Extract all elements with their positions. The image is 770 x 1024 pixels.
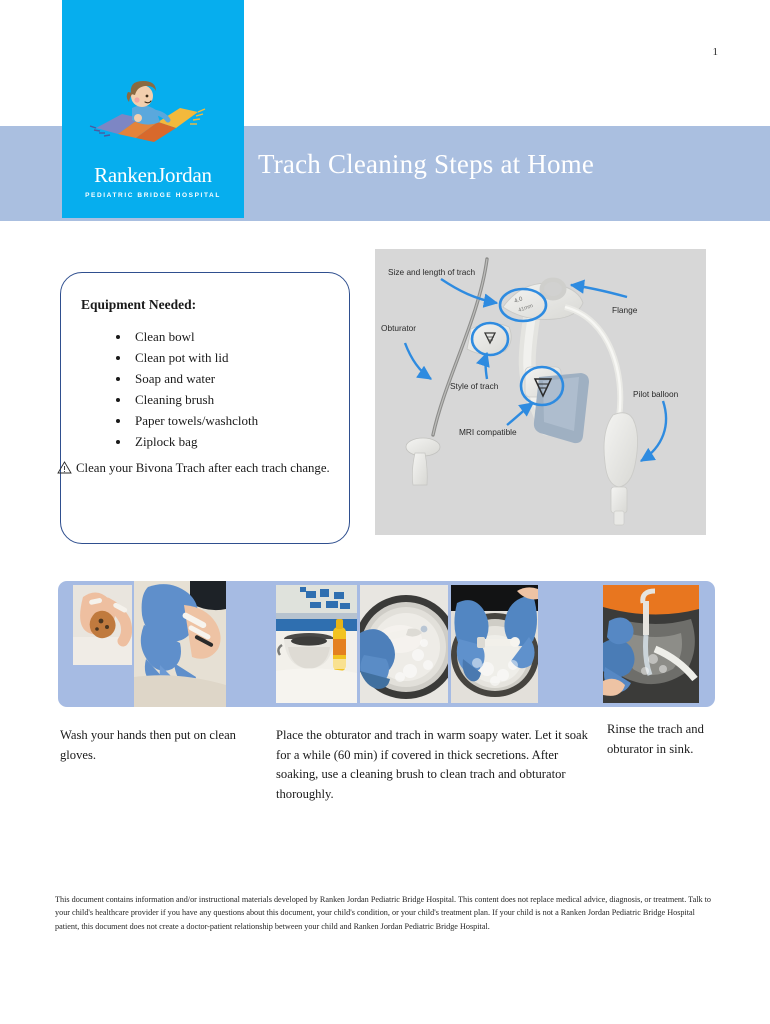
photo-scrub-obturator [451, 585, 538, 703]
equipment-warning-text: Clean your Bivona Trach after each trach… [76, 461, 330, 475]
photo-clean-trach-in-bowl [360, 585, 448, 703]
caption-step-3: Rinse the trach and obturator in sink. [607, 720, 719, 759]
photo-wash-hands [73, 585, 132, 665]
caption-step-2: Place the obturator and trach in warm so… [276, 726, 588, 804]
list-item: Cleaning brush [131, 389, 258, 410]
footer-disclaimer: This document contains information and/o… [55, 893, 715, 933]
svg-text:Size and length of trach: Size and length of trach [388, 267, 476, 277]
equipment-warning: Clean your Bivona Trach after each trach… [75, 459, 339, 480]
svg-text:Pilot balloon: Pilot balloon [633, 389, 679, 399]
logo-tagline: PEDIATRIC BRIDGE HOSPITAL [62, 192, 244, 199]
svg-text:Flange: Flange [612, 305, 638, 315]
svg-text:MRI compatible: MRI compatible [459, 427, 517, 437]
page-number: 1 [713, 46, 719, 58]
list-item: Clean pot with lid [131, 347, 258, 368]
page-title: Trach Cleaning Steps at Home [258, 150, 728, 180]
equipment-list: Clean bowl Clean pot with lid Soap and w… [107, 326, 258, 452]
photo-put-on-gloves [134, 581, 226, 707]
equipment-heading: Equipment Needed: [81, 297, 196, 313]
photo-pot-and-soap [276, 585, 357, 703]
svg-text:Obturator: Obturator [381, 323, 416, 333]
list-item: Clean bowl [131, 326, 258, 347]
trach-diagram-figure: 4.0 41mm Size and length of tr [375, 249, 706, 535]
caption-step-1: Wash your hands then put on clean gloves… [60, 726, 245, 765]
list-item: Paper towels/washcloth [131, 410, 258, 431]
equipment-needed-box: Equipment Needed: Clean bowl Clean pot w… [60, 272, 350, 544]
logo-wordmark: RankenJordan [62, 163, 244, 188]
ranken-jordan-logo: RankenJordan PEDIATRIC BRIDGE HOSPITAL [62, 0, 244, 218]
list-item: Ziplock bag [131, 431, 258, 452]
list-item: Soap and water [131, 368, 258, 389]
photo-strip [58, 581, 715, 707]
photo-rinse-in-sink [603, 585, 699, 703]
child-on-carpet-icon [62, 78, 244, 150]
svg-text:Style of trach: Style of trach [450, 381, 499, 391]
